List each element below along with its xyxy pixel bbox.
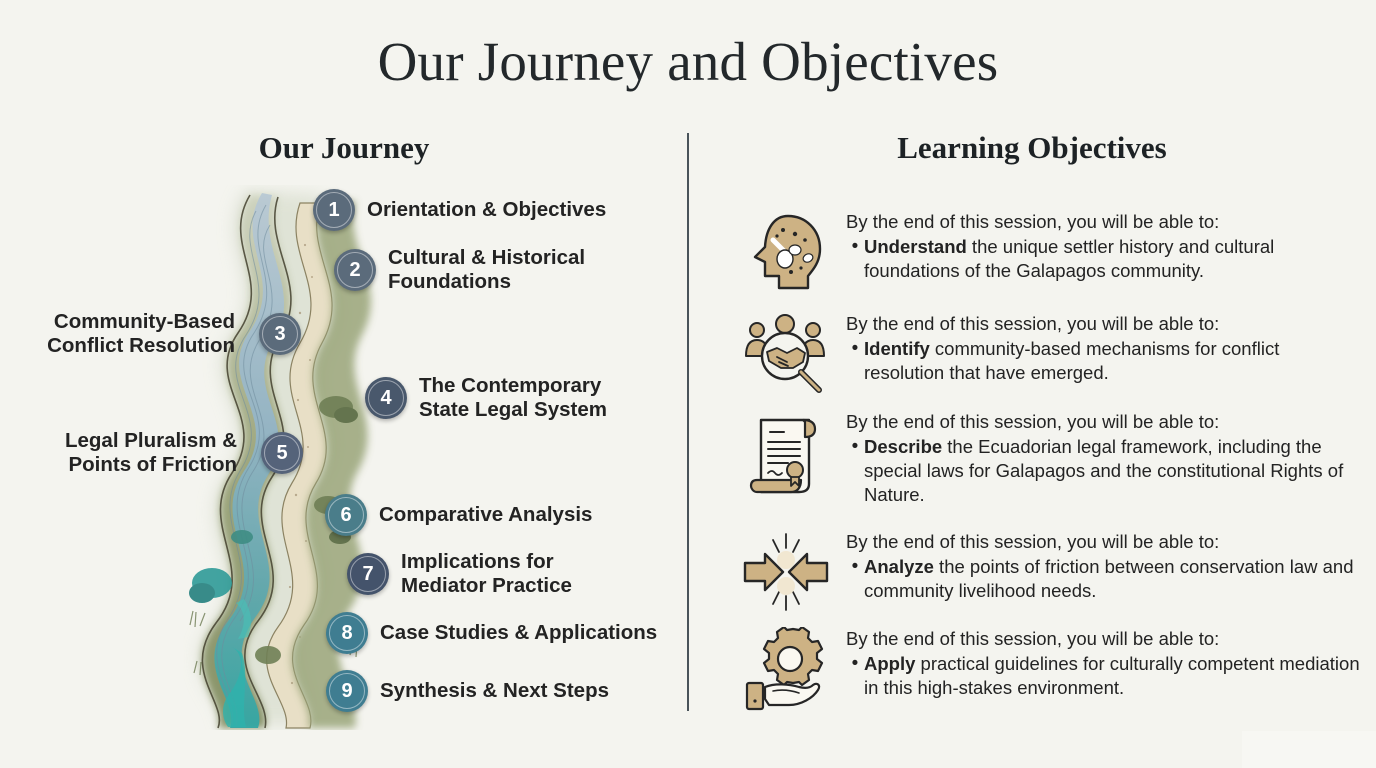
objective-item-2: By the end of this session, you will be … <box>740 310 1360 396</box>
step-number-badge: 9 <box>326 670 368 712</box>
objective-bullet-text: Analyze the points of friction between c… <box>864 555 1360 603</box>
objective-bullet: • Identify community-based mechanisms fo… <box>846 337 1360 385</box>
objective-item-5: By the end of this session, you will be … <box>740 625 1360 711</box>
objective-bullet-lead: Identify <box>864 338 930 359</box>
objective-bullet-text: Apply practical guidelines for culturall… <box>864 652 1360 700</box>
journey-step-3[interactable]: 3 Community-Based Conflict Resolution <box>259 312 301 356</box>
objective-intro: By the end of this session, you will be … <box>846 210 1360 233</box>
objective-bullet: • Understand the unique settler history … <box>846 235 1360 283</box>
objective-bullet-text: Describe the Ecuadorian legal framework,… <box>864 435 1360 507</box>
bullet-glyph: • <box>846 435 864 507</box>
objective-bullet-text: Understand the unique settler history an… <box>864 235 1360 283</box>
objective-bullet-rest: practical guidelines for culturally comp… <box>864 653 1360 698</box>
slide-root: Our Journey and Objectives Our Journey L… <box>0 0 1376 768</box>
legal-scroll-seal-icon <box>740 408 832 494</box>
journey-step-5[interactable]: 5 Legal Pluralism & Points of Friction <box>261 431 303 475</box>
journey-step-4[interactable]: 4 The Contemporary State Legal System <box>365 376 607 420</box>
opposing-arrows-friction-icon <box>740 528 832 614</box>
journey-step-label: The Contemporary State Legal System <box>419 374 607 422</box>
step-number-badge: 1 <box>313 189 355 231</box>
objective-item-3: By the end of this session, you will be … <box>740 408 1360 507</box>
objective-body: By the end of this session, you will be … <box>832 528 1360 603</box>
objective-intro: By the end of this session, you will be … <box>846 627 1360 650</box>
corner-highlight-patch <box>1242 731 1376 768</box>
journey-step-8[interactable]: 8 Case Studies & Applications <box>326 611 657 655</box>
community-handshake-magnifier-icon <box>740 310 832 396</box>
step-number-badge: 8 <box>326 612 368 654</box>
objective-bullet-lead: Analyze <box>864 556 934 577</box>
journey-step-9[interactable]: 9 Synthesis & Next Steps <box>326 669 609 713</box>
step-number-badge: 6 <box>325 494 367 536</box>
objective-bullet: • Describe the Ecuadorian legal framewor… <box>846 435 1360 507</box>
objective-bullet-text: Identify community-based mechanisms for … <box>864 337 1360 385</box>
journey-step-label: Orientation & Objectives <box>367 198 606 222</box>
journey-step-7[interactable]: 7 Implications for Mediator Practice <box>347 552 572 596</box>
section-header-our-journey: Our Journey <box>0 130 688 166</box>
objective-body: By the end of this session, you will be … <box>832 208 1360 283</box>
objective-bullet-lead: Understand <box>864 236 967 257</box>
bullet-glyph: • <box>846 555 864 603</box>
journey-step-label: Implications for Mediator Practice <box>401 550 572 598</box>
objective-intro: By the end of this session, you will be … <box>846 530 1360 553</box>
column-divider <box>687 133 689 711</box>
step-number-badge: 4 <box>365 377 407 419</box>
journey-step-label: Case Studies & Applications <box>380 621 657 645</box>
journey-step-label: Synthesis & Next Steps <box>380 679 609 703</box>
objective-body: By the end of this session, you will be … <box>832 625 1360 700</box>
journey-step-label: Community-Based Conflict Resolution <box>0 310 235 358</box>
objective-bullet: • Apply practical guidelines for cultura… <box>846 652 1360 700</box>
journey-step-label: Legal Pluralism & Points of Friction <box>0 429 237 477</box>
step-number-badge: 7 <box>347 553 389 595</box>
objective-item-4: By the end of this session, you will be … <box>740 528 1360 614</box>
objective-item-1: By the end of this session, you will be … <box>740 208 1360 294</box>
bullet-glyph: • <box>846 235 864 283</box>
objective-bullet-rest: the points of friction between conservat… <box>864 556 1354 601</box>
journey-step-label: Comparative Analysis <box>379 503 592 527</box>
step-number-badge: 2 <box>334 249 376 291</box>
objective-body: By the end of this session, you will be … <box>832 310 1360 385</box>
head-with-thoughts-icon <box>740 208 832 294</box>
step-number-badge: 3 <box>259 313 301 355</box>
hand-holding-gear-icon <box>740 625 832 711</box>
objective-bullet: • Analyze the points of friction between… <box>846 555 1360 603</box>
page-title: Our Journey and Objectives <box>0 30 1376 94</box>
bullet-glyph: • <box>846 652 864 700</box>
objective-body: By the end of this session, you will be … <box>832 408 1360 507</box>
journey-step-1[interactable]: 1 Orientation & Objectives <box>313 188 606 232</box>
objective-intro: By the end of this session, you will be … <box>846 312 1360 335</box>
section-header-learning-objectives: Learning Objectives <box>688 130 1376 166</box>
objective-bullet-lead: Describe <box>864 436 942 457</box>
journey-step-label: Cultural & Historical Foundations <box>388 246 585 294</box>
journey-step-6[interactable]: 6 Comparative Analysis <box>325 493 592 537</box>
objective-intro: By the end of this session, you will be … <box>846 410 1360 433</box>
step-number-badge: 5 <box>261 432 303 474</box>
objective-bullet-lead: Apply <box>864 653 915 674</box>
bullet-glyph: • <box>846 337 864 385</box>
journey-step-2[interactable]: 2 Cultural & Historical Foundations <box>334 248 585 292</box>
